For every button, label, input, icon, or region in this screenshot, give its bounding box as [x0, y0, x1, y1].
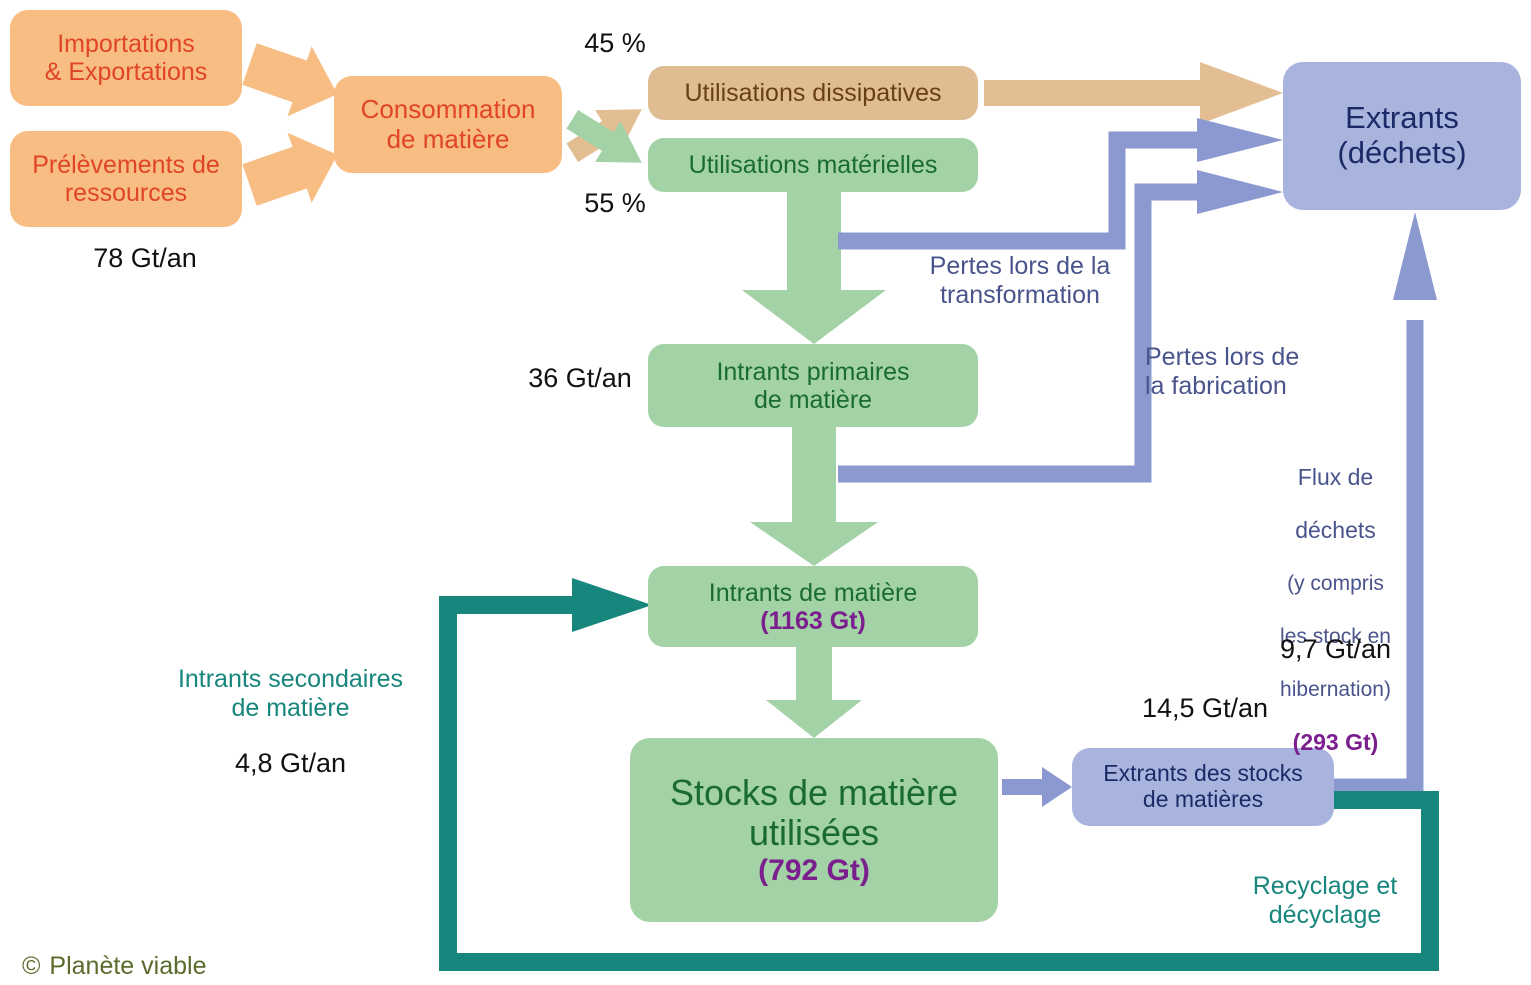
arrow-intrants-matiere-to-stocks: [766, 647, 862, 738]
node-intrants-primaires-line2: de matière: [754, 386, 872, 414]
node-materielles-label: Utilisations matérielles: [689, 151, 938, 179]
label-pertes-transformation: Pertes lors de la transformation: [895, 252, 1145, 309]
label-intrants-secondaires-flow: 4,8 Gt/an: [148, 748, 433, 779]
node-extrants-stocks-line1: Extrants des stocks: [1103, 761, 1302, 787]
label-flux-dechets-flow: 9,7 Gt/an: [1253, 634, 1418, 665]
node-consommation-line1: Consommation: [361, 95, 536, 124]
arrow-prelevements-to-consommation: [237, 120, 349, 220]
node-importations-exportations[interactable]: Importations & Exportations: [10, 10, 242, 106]
label-flux-line1: Flux de: [1298, 464, 1373, 490]
node-extrants-line2: (déchets): [1337, 136, 1466, 171]
label-flux-amount: (293 Gt): [1293, 729, 1379, 755]
node-consommation-line2: de matière: [387, 125, 510, 154]
node-intrants-matiere[interactable]: Intrants de matière (1163 Gt): [648, 566, 978, 647]
node-prelevements-line1: Prélèvements de: [32, 151, 220, 179]
label-pct-dissipatives: 45 %: [560, 28, 670, 59]
arrow-pertes-fabrication: [838, 170, 1283, 474]
node-prelevements-ressources[interactable]: Prélèvements de ressources: [10, 131, 242, 227]
node-intrants-primaires-matiere[interactable]: Intrants primaires de matière: [648, 344, 978, 427]
label-pct-materielles: 55 %: [560, 188, 670, 219]
label-consommation-flow: 78 Gt/an: [35, 243, 255, 274]
node-consommation-matiere[interactable]: Consommation de matière: [334, 76, 562, 173]
label-intrants-primaires-flow: 36 Gt/an: [495, 363, 665, 394]
label-flux-line2: déchets: [1295, 517, 1376, 543]
node-extrants-line1: Extrants: [1345, 101, 1459, 136]
label-recyclage-decyclage: Recyclage et décyclage: [1225, 872, 1425, 929]
copyright-credit: ©Planète viable: [22, 923, 322, 980]
node-stocks-line2: utilisées: [749, 813, 879, 853]
node-intrants-primaires-line1: Intrants primaires: [716, 358, 909, 386]
node-stocks-amount: (792 Gt): [758, 854, 870, 888]
node-importations-line1: Importations: [57, 30, 195, 58]
node-extrants-dechets[interactable]: Extrants (déchets): [1283, 62, 1521, 210]
arrow-intrants-primaires-to-intrants-matiere: [750, 427, 878, 566]
node-dissipatives-label: Utilisations dissipatives: [684, 79, 941, 107]
node-stocks-matiere-utilisees[interactable]: Stocks de matière utilisées (792 Gt): [630, 738, 998, 922]
copyright-text: Planète viable: [49, 952, 206, 980]
node-stocks-line1: Stocks de matière: [670, 773, 958, 813]
label-intrants-secondaires: Intrants secondaires de matière: [148, 665, 433, 722]
arrow-stocks-to-extrants-stocks: [1002, 767, 1072, 807]
diagram-canvas: Importations & Exportations Prélèvements…: [0, 0, 1531, 985]
arrow-importations-to-consommation: [237, 29, 349, 129]
node-utilisations-materielles[interactable]: Utilisations matérielles: [648, 138, 978, 192]
node-intrants-matiere-label: Intrants de matière: [709, 579, 917, 607]
arrow-materielles-to-intrants-primaires: [742, 192, 886, 344]
node-utilisations-dissipatives[interactable]: Utilisations dissipatives: [648, 66, 978, 120]
label-flux-line3: (y compris: [1287, 572, 1384, 595]
copyright-icon: ©: [22, 952, 40, 980]
node-prelevements-line2: ressources: [65, 179, 187, 207]
node-extrants-stocks-line2: de matières: [1143, 787, 1263, 813]
node-importations-line2: & Exportations: [45, 58, 208, 86]
label-extrants-stocks-flow: 14,5 Gt/an: [1100, 693, 1310, 724]
node-extrants-des-stocks[interactable]: Extrants des stocks de matières: [1072, 748, 1334, 826]
arrow-dissipatives-to-extrants: [984, 62, 1283, 124]
node-intrants-matiere-amount: (1163 Gt): [760, 607, 866, 635]
label-pertes-fabrication: Pertes lors de la fabrication: [1145, 343, 1345, 400]
